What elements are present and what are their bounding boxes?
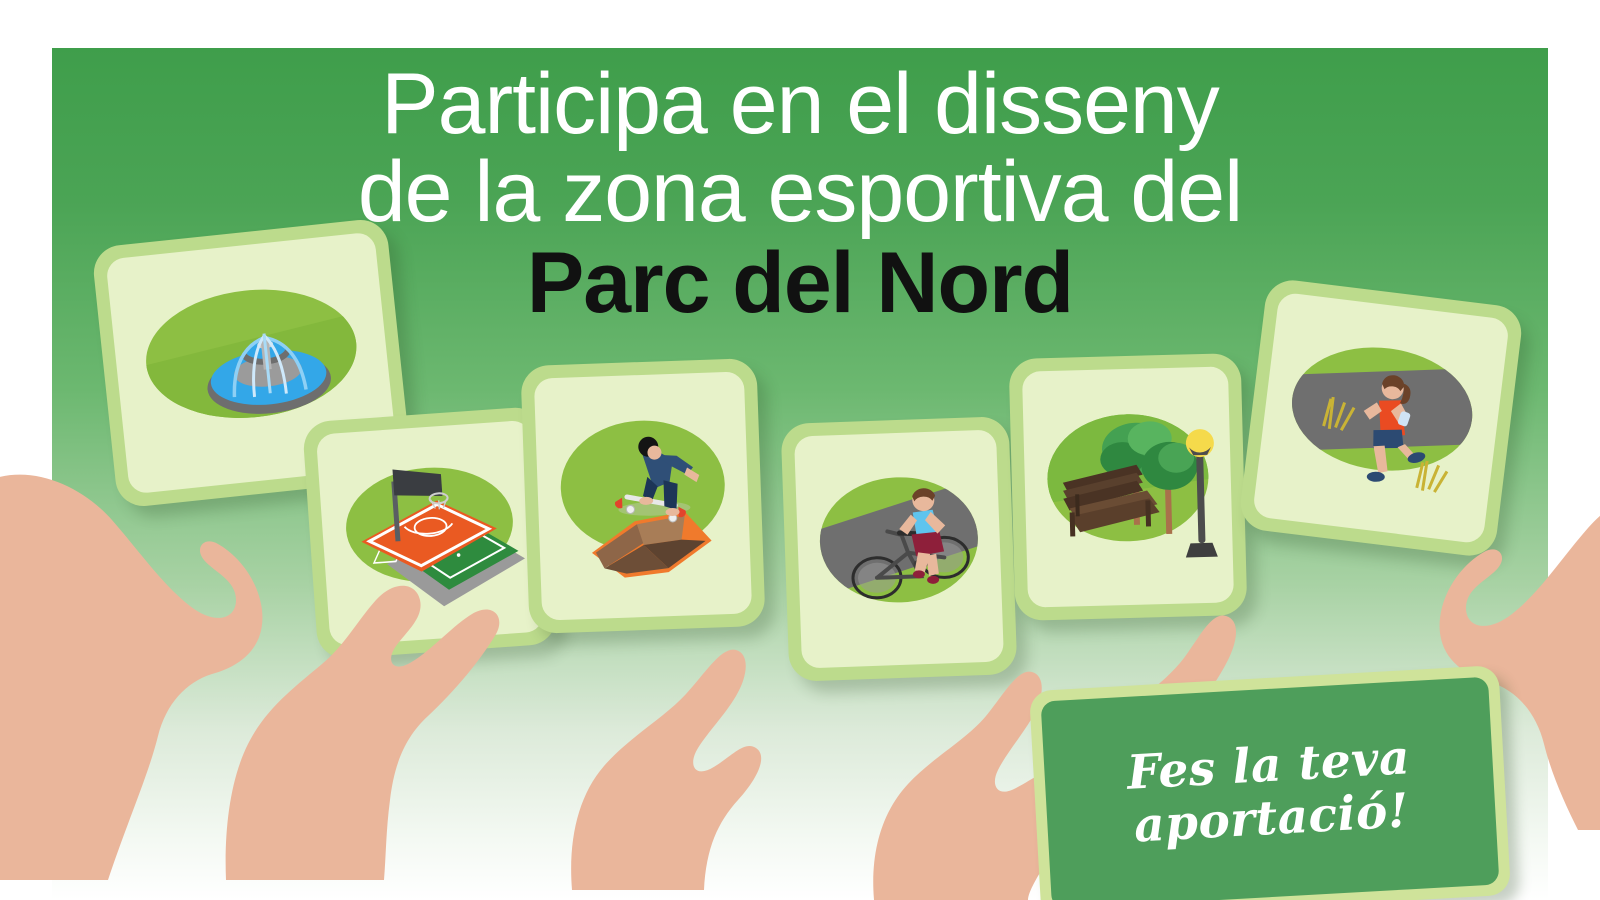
footer: Ajuntament de Sabadell Hi col·labora: bbox=[0, 780, 1600, 870]
poster-canvas: Participa en el disseny de la zona espor… bbox=[0, 0, 1600, 900]
